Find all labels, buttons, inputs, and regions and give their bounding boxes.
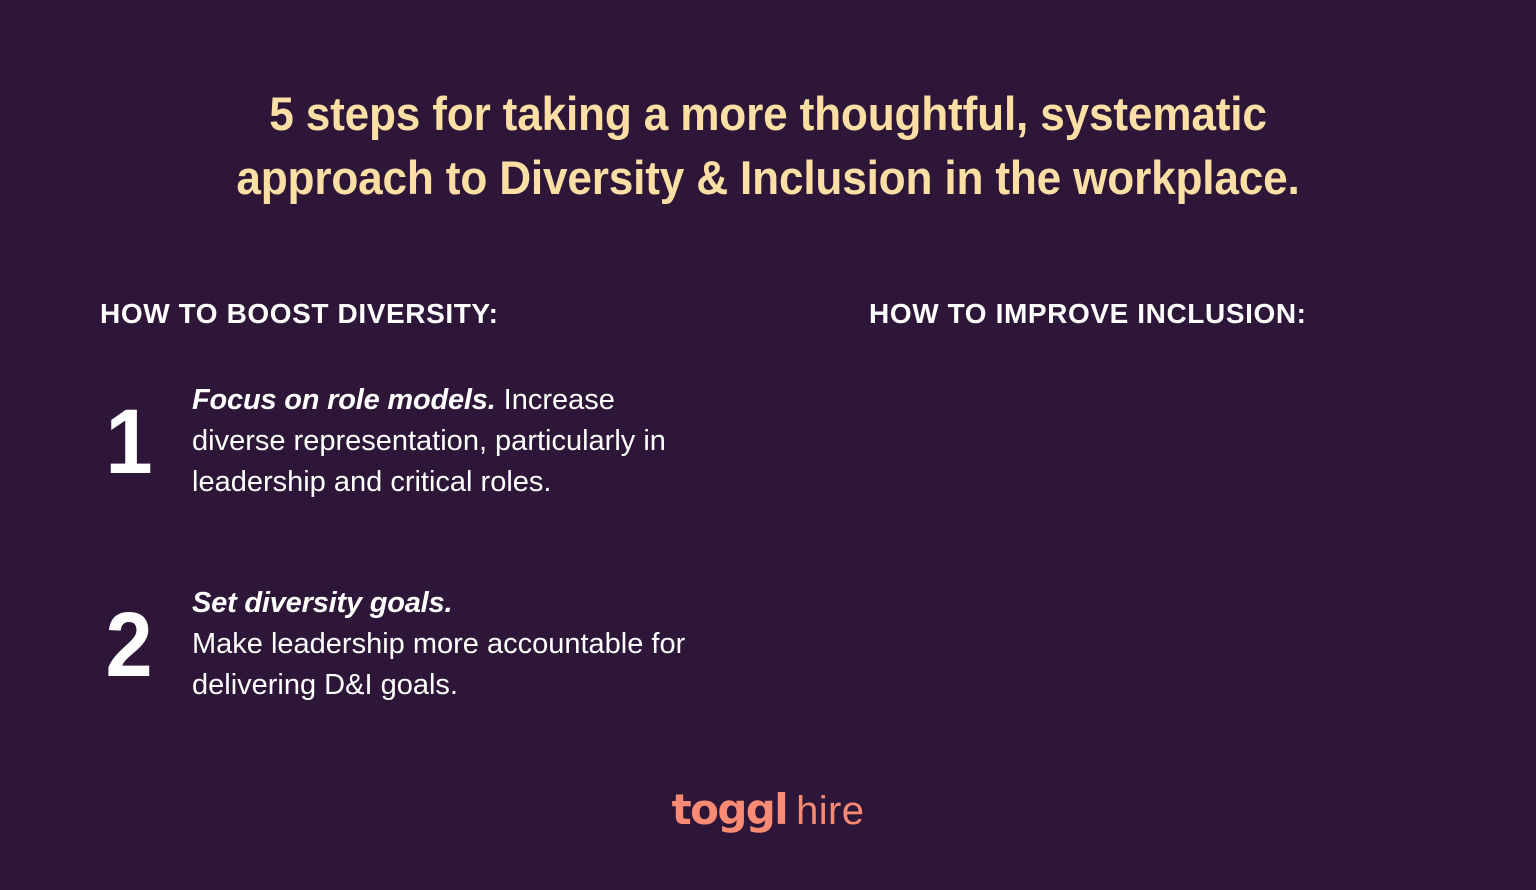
step-lead: Set diversity goals.	[192, 587, 452, 619]
list-item: 1 Focus on role models. Increase diverse…	[100, 380, 700, 503]
step-number: 2	[100, 599, 185, 691]
step-number: 1	[100, 396, 185, 488]
title-line-1: 5 steps for taking a more thoughtful, sy…	[46, 82, 1490, 146]
page-title: 5 steps for taking a more thoughtful, sy…	[0, 82, 1536, 210]
column-header-inclusion: HOW TO IMPROVE INCLUSION:	[869, 298, 1307, 330]
title-line-2: approach to Diversity & Inclusion in the…	[46, 146, 1490, 210]
step-text: Focus on role models. Increase diverse r…	[192, 380, 700, 503]
column-header-diversity: HOW TO BOOST DIVERSITY:	[100, 298, 499, 330]
step-text: Set diversity goals. Make leadership mor…	[192, 583, 700, 706]
logo-wordmark-hire: hire	[796, 789, 864, 833]
step-body: Make leadership more accountable for del…	[192, 628, 685, 701]
logo-wordmark-toggl: toggl	[672, 785, 787, 834]
infographic-canvas: 5 steps for taking a more thoughtful, sy…	[0, 0, 1536, 890]
toggl-hire-logo: togglhire	[0, 785, 1536, 834]
step-lead: Focus on role models.	[192, 384, 496, 416]
list-item: 2 Set diversity goals. Make leadership m…	[100, 583, 700, 706]
